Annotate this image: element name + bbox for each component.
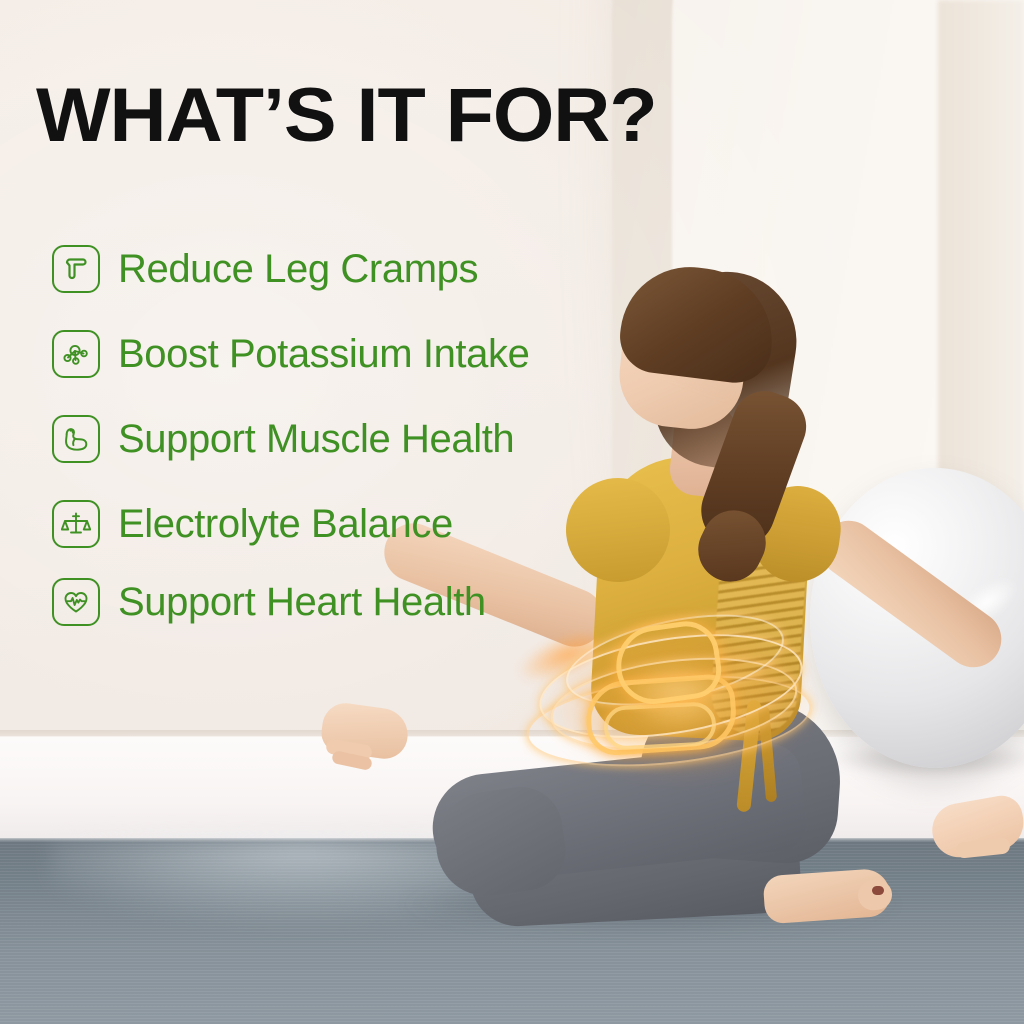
list-item-label: Boost Potassium Intake	[118, 334, 529, 374]
list-item: Boost Potassium Intake	[52, 325, 529, 383]
infographic-canvas: WHAT’S IT FOR? Reduce Leg Cramps	[0, 0, 1024, 1024]
list-item: Support Heart Health	[52, 573, 529, 631]
list-item: Support Muscle Health	[52, 410, 529, 468]
list-item-label: Support Muscle Health	[118, 419, 514, 459]
molecule-icon	[52, 330, 100, 378]
list-item-label: Electrolyte Balance	[118, 504, 453, 544]
digestive-glow-overlay	[520, 612, 820, 782]
benefit-list: Reduce Leg Cramps Boost Potassium Intake	[52, 240, 529, 651]
leg-icon	[52, 245, 100, 293]
intestine-inner-outline	[603, 701, 717, 751]
heart-pulse-icon	[52, 578, 100, 626]
list-item: Electrolyte Balance	[52, 495, 529, 553]
list-item-label: Reduce Leg Cramps	[118, 249, 478, 289]
balance-scale-icon	[52, 500, 100, 548]
toenail	[872, 886, 884, 895]
list-item-label: Support Heart Health	[118, 582, 486, 622]
list-item: Reduce Leg Cramps	[52, 240, 529, 298]
bicep-icon	[52, 415, 100, 463]
page-title: WHAT’S IT FOR?	[36, 72, 657, 159]
